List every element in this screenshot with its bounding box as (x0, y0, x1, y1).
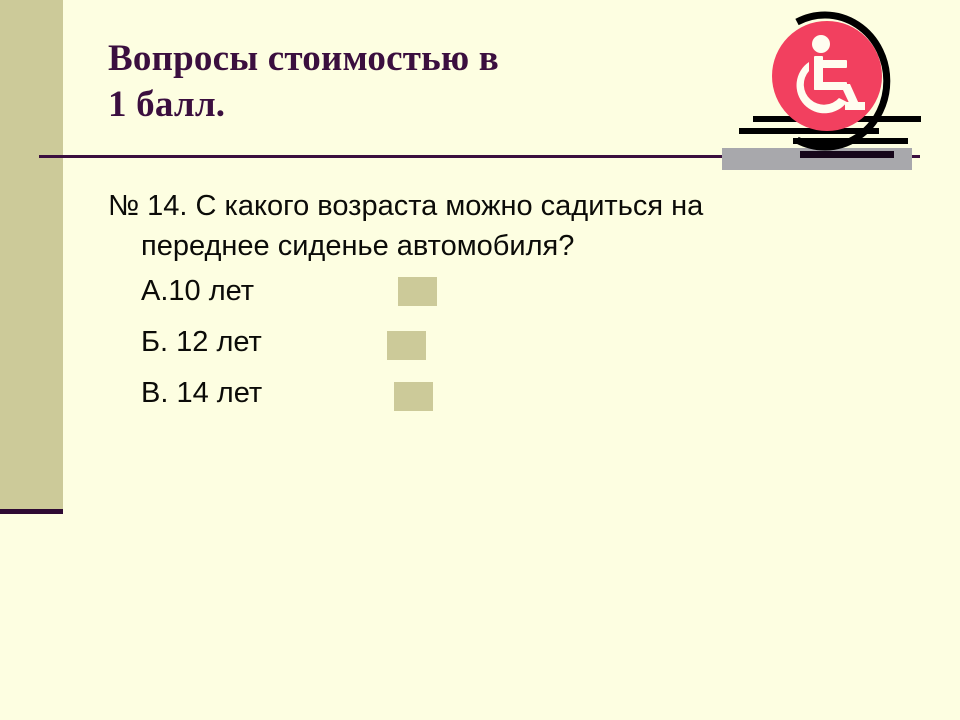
answer-option-v-swatch[interactable] (394, 382, 433, 411)
left-accent-band-footer-bar (0, 509, 63, 514)
answer-option-a-swatch[interactable] (398, 277, 437, 306)
answer-option-a-label: А.10 лет (141, 272, 254, 310)
answer-option-v[interactable]: В. 14 лет (141, 374, 601, 425)
slide-title-line-1: Вопросы стоимостью в (108, 36, 748, 82)
logo-ground-line-bottom (793, 138, 908, 144)
question-line-2: переднее сиденье автомобиля? (108, 226, 898, 266)
answer-option-v-label: В. 14 лет (141, 374, 262, 412)
wheelchair-accessibility-logo (735, 6, 940, 156)
answer-option-b-label: Б. 12 лет (141, 323, 262, 361)
answer-option-b[interactable]: Б. 12 лет (141, 323, 601, 374)
slide-title-line-2: 1 балл. (108, 82, 748, 128)
answer-options-list: А.10 лет Б. 12 лет В. 14 лет (141, 272, 601, 425)
answer-option-b-swatch[interactable] (387, 331, 426, 360)
slide-title: Вопросы стоимостью в 1 балл. (108, 36, 748, 128)
question-line-1: № 14. С какого возраста можно садиться н… (108, 186, 898, 226)
presentation-slide: Вопросы стоимостью в 1 балл. (0, 0, 960, 720)
question-text: № 14. С какого возраста можно садиться н… (108, 186, 898, 266)
left-accent-band (0, 0, 63, 509)
answer-option-a[interactable]: А.10 лет (141, 272, 601, 323)
